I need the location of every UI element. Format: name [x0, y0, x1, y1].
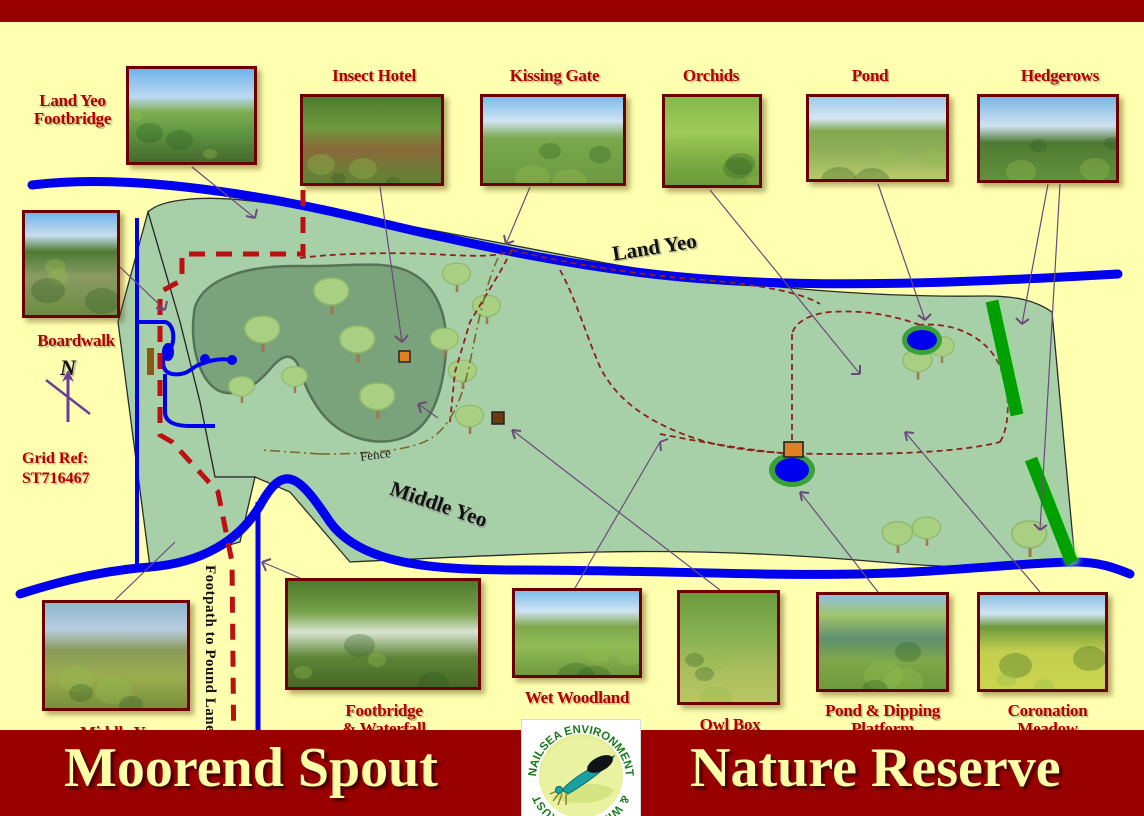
photo-label-orchids: Orchids: [650, 67, 772, 85]
photo-footbridge-waterfall: [285, 578, 481, 690]
photo-middle-yeo-photo: [42, 600, 190, 711]
photo-detail: [747, 176, 762, 188]
photo-detail: [539, 143, 561, 160]
photo-pond: [806, 94, 949, 182]
photo-detail: [515, 165, 550, 186]
map-poster: Land Yeo Middle Yeo Fence N Footpath to …: [0, 0, 1144, 816]
photo-detail: [1034, 679, 1054, 692]
photo-detail: [349, 158, 377, 179]
photo-label-boardwalk: Boardwalk: [15, 332, 137, 350]
photo-detail: [331, 173, 346, 184]
photo-detail: [418, 672, 449, 690]
photo-detail: [878, 148, 901, 165]
photo-detail: [1080, 158, 1110, 181]
logo-artwork: NAILSEA ENVIRONMENT & WILDLIFE TRUST: [522, 720, 640, 816]
grid-reference: Grid Ref: ST716467: [22, 449, 90, 489]
photo-pond-dipping: [816, 592, 949, 692]
photo-hedgerows: [977, 94, 1119, 183]
photo-detail: [862, 680, 888, 692]
photo-label-kissing-gate: Kissing Gate: [483, 67, 626, 85]
photo-orchids: [662, 94, 762, 188]
photo-detail: [368, 653, 386, 667]
footpath-to-pound-lane-label: Footpath to Pound Lane: [201, 565, 218, 732]
compass-north-label: N: [60, 355, 76, 381]
photo-detail: [85, 288, 119, 314]
photo-detail: [695, 667, 714, 681]
photo-detail: [924, 149, 947, 166]
photo-detail: [586, 644, 611, 663]
photo-detail: [895, 642, 921, 662]
photo-detail: [294, 666, 312, 680]
photo-detail: [673, 138, 689, 150]
photo-detail: [700, 686, 732, 705]
photo-label-wet-woodland: Wet Woodland: [503, 689, 651, 707]
grid-ref-value: ST716467: [22, 469, 90, 489]
photo-label-insect-hotel: Insect Hotel: [305, 67, 443, 85]
photo-detail: [552, 169, 587, 186]
photo-detail: [166, 130, 193, 150]
photo-owl-box: [677, 590, 780, 705]
photo-detail: [854, 168, 890, 182]
photo-boardwalk: [22, 210, 120, 318]
photo-wet-woodland: [512, 588, 642, 678]
photo-detail: [589, 146, 611, 163]
photo-detail: [1030, 139, 1047, 152]
photo-detail: [203, 149, 217, 160]
photo-detail: [386, 177, 401, 186]
photo-detail: [1104, 137, 1119, 150]
photo-kissing-gate: [480, 94, 626, 186]
title-left: Moorend Spout: [64, 736, 438, 800]
photo-label-land-yeo-footbridge: Land Yeo Footbridge: [20, 92, 125, 129]
photo-detail: [821, 167, 857, 182]
photo-detail: [307, 154, 335, 175]
photo-label-pond: Pond: [820, 67, 920, 85]
photo-detail: [136, 123, 163, 143]
photo-label-hedgerows: Hedgerows: [996, 67, 1124, 85]
photo-detail: [31, 278, 65, 304]
grid-ref-label: Grid Ref:: [22, 449, 90, 469]
photo-detail: [997, 672, 1017, 687]
photo-detail: [1073, 646, 1106, 671]
photo-insect-hotel: [300, 94, 444, 186]
nailsea-trust-logo: NAILSEA ENVIRONMENT & WILDLIFE TRUST: [521, 719, 641, 816]
title-right: Nature Reserve: [690, 736, 1061, 800]
photo-detail: [69, 684, 93, 702]
photo-detail: [45, 259, 66, 275]
photo-detail: [1006, 160, 1036, 183]
photo-land-yeo-footbridge: [126, 66, 257, 165]
photo-detail: [726, 153, 755, 175]
photo-detail: [129, 111, 143, 122]
photo-detail: [617, 647, 642, 666]
photo-detail: [119, 696, 143, 711]
photo-coronation-meadow: [977, 592, 1108, 692]
